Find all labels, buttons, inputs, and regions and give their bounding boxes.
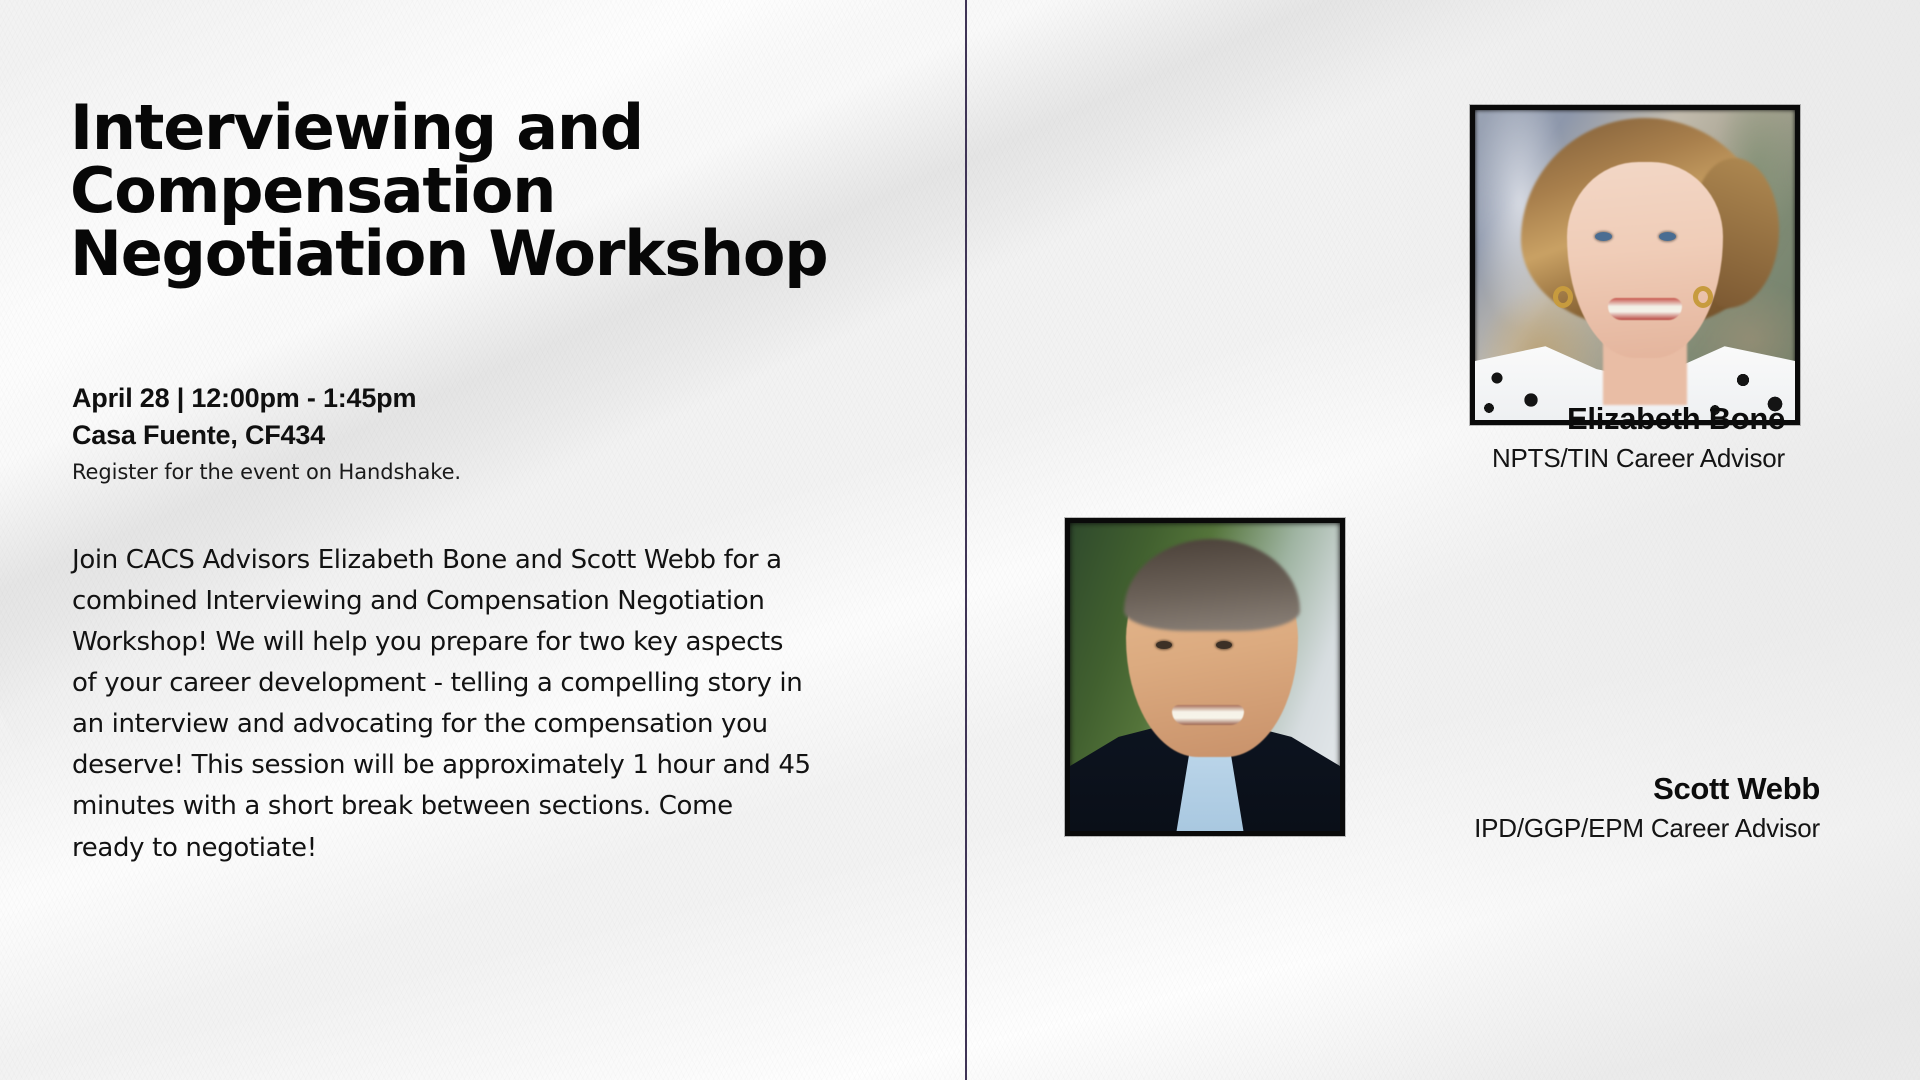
speaker-role: NPTS/TIN Career Advisor [1105, 442, 1785, 476]
speaker-role: IPD/GGP/EPM Career Advisor [1065, 812, 1820, 846]
event-flyer: Interviewing and Compensation Negotiatio… [0, 0, 1920, 1080]
right-speakers-column: Elizabeth Bone NPTS/TIN Career Advisor [965, 0, 1920, 1080]
eye-left [1156, 641, 1172, 649]
left-content-column: Interviewing and Compensation Negotiatio… [70, 0, 920, 1080]
mouth [1608, 298, 1682, 320]
speaker-caption-scott: Scott Webb IPD/GGP/EPM Career Advisor [1065, 770, 1820, 846]
eye-left [1595, 232, 1612, 241]
earring-right [1693, 286, 1713, 308]
event-datetime: April 28 | 12:00pm - 1:45pm [72, 380, 772, 417]
mouth [1172, 705, 1244, 725]
speaker-name: Elizabeth Bone [1105, 400, 1785, 437]
eye-right [1659, 232, 1676, 241]
page-title: Interviewing and Compensation Negotiatio… [70, 96, 880, 286]
eye-right [1216, 641, 1232, 649]
headshot-elizabeth-bone [1470, 105, 1800, 425]
event-description: Join CACS Advisors Elizabeth Bone and Sc… [72, 540, 812, 869]
speaker-name: Scott Webb [1065, 770, 1820, 807]
event-location: Casa Fuente, CF434 [72, 417, 772, 454]
speaker-caption-elizabeth: Elizabeth Bone NPTS/TIN Career Advisor [1105, 400, 1785, 476]
headshot-image-inner [1475, 110, 1795, 420]
event-registration-note: Register for the event on Handshake. [72, 457, 772, 489]
earring-left [1553, 286, 1573, 308]
event-details: April 28 | 12:00pm - 1:45pm Casa Fuente,… [72, 380, 772, 489]
